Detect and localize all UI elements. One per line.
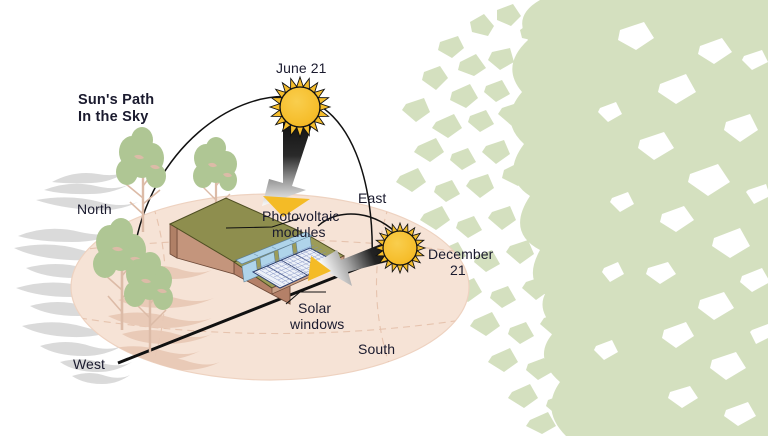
label-pv-line1: Photovoltaic bbox=[262, 208, 339, 224]
diagram-title-line1: Sun's Path bbox=[78, 92, 154, 108]
label-june-21: June 21 bbox=[276, 60, 327, 76]
label-east: East bbox=[358, 190, 386, 206]
foliage-backdrop bbox=[396, 0, 768, 436]
diagram-title-line2: In the Sky bbox=[78, 109, 149, 125]
suns-path-diagram: Sun's PathIn the Sky June 21 December21 … bbox=[0, 0, 768, 436]
june-21-sun bbox=[270, 77, 330, 137]
label-pv-line2: modules bbox=[272, 224, 326, 240]
december-sun-disc bbox=[383, 231, 417, 265]
label-west: West bbox=[73, 356, 105, 372]
house-wall-left bbox=[170, 224, 177, 258]
label-south: South bbox=[358, 341, 395, 357]
diagram-title: Sun's PathIn the Sky bbox=[78, 92, 154, 125]
label-north: North bbox=[77, 201, 112, 217]
label-photovoltaic-modules: Photovoltaicmodules bbox=[262, 208, 339, 240]
diagram-canvas bbox=[0, 0, 768, 436]
label-december-21: December21 bbox=[428, 246, 508, 278]
label-solar-windows-line1: Solar bbox=[298, 300, 331, 316]
label-solar-windows-line2: windows bbox=[290, 316, 344, 332]
label-december-21-line2: 21 bbox=[450, 262, 466, 278]
label-december-21-line1: December bbox=[428, 246, 493, 262]
june-sun-disc bbox=[280, 87, 320, 127]
label-solar-windows: Solarwindows bbox=[290, 300, 344, 332]
